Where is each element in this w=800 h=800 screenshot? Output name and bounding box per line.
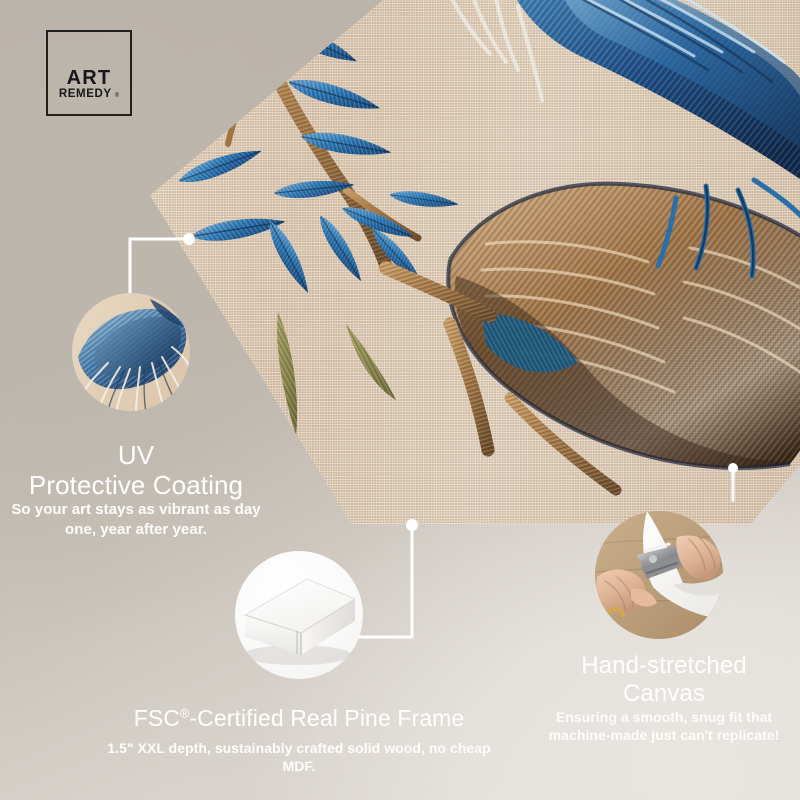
logo-word-art: ART	[67, 68, 112, 88]
logo-word-remedy: REMEDY	[59, 89, 112, 101]
uv-title-line-1: UV	[0, 440, 272, 470]
canvas-feature-title: Hand-stretched Canvas	[528, 652, 800, 708]
canvas-feature-image	[595, 511, 723, 639]
canvas-title-line-1: Hand-stretched	[528, 652, 800, 680]
uv-feature-description: So your art stays as vibrant as day one,…	[6, 500, 266, 539]
uv-title-line-2: Protective Coating	[0, 470, 272, 500]
blue-feather-embroidery-closeup-icon	[72, 293, 190, 411]
frame-title-registered-icon: ®	[180, 706, 189, 720]
frame-feature-image	[235, 551, 363, 679]
artwork-bird-body	[448, 184, 800, 468]
uv-feature-image	[72, 293, 190, 411]
canvas-title-line-2: Canvas	[528, 680, 800, 708]
registered-trademark-icon: ®	[115, 93, 119, 99]
artwork-blue-leaves	[157, 0, 460, 297]
connector-uv	[130, 239, 189, 300]
artwork-olive-leaves	[277, 312, 396, 436]
connector-frame	[357, 526, 412, 637]
frame-feature-title: FSC®-Certified Real Pine Frame	[84, 705, 514, 732]
frame-feature-description: 1.5" XXL depth, sustainably crafted soli…	[104, 739, 494, 775]
uv-feature-title: UV Protective Coating	[0, 440, 272, 500]
brand-logo[interactable]: ART REMEDY ®	[46, 30, 132, 116]
artwork-bird-blue-plumage	[502, 0, 800, 190]
frame-title-prefix: FSC	[134, 705, 180, 731]
white-canvas-frame-corner-icon	[235, 551, 363, 679]
hands-stretching-canvas-pliers-icon	[595, 511, 723, 639]
canvas-feature-description: Ensuring a smooth, snug fit that machine…	[536, 708, 792, 744]
logo-second-row: REMEDY ®	[59, 89, 119, 101]
infographic-canvas: ART REMEDY ®	[0, 0, 800, 800]
frame-title-suffix: -Certified Real Pine Frame	[189, 705, 464, 731]
artwork-pale-accent-feathers	[436, 0, 542, 100]
